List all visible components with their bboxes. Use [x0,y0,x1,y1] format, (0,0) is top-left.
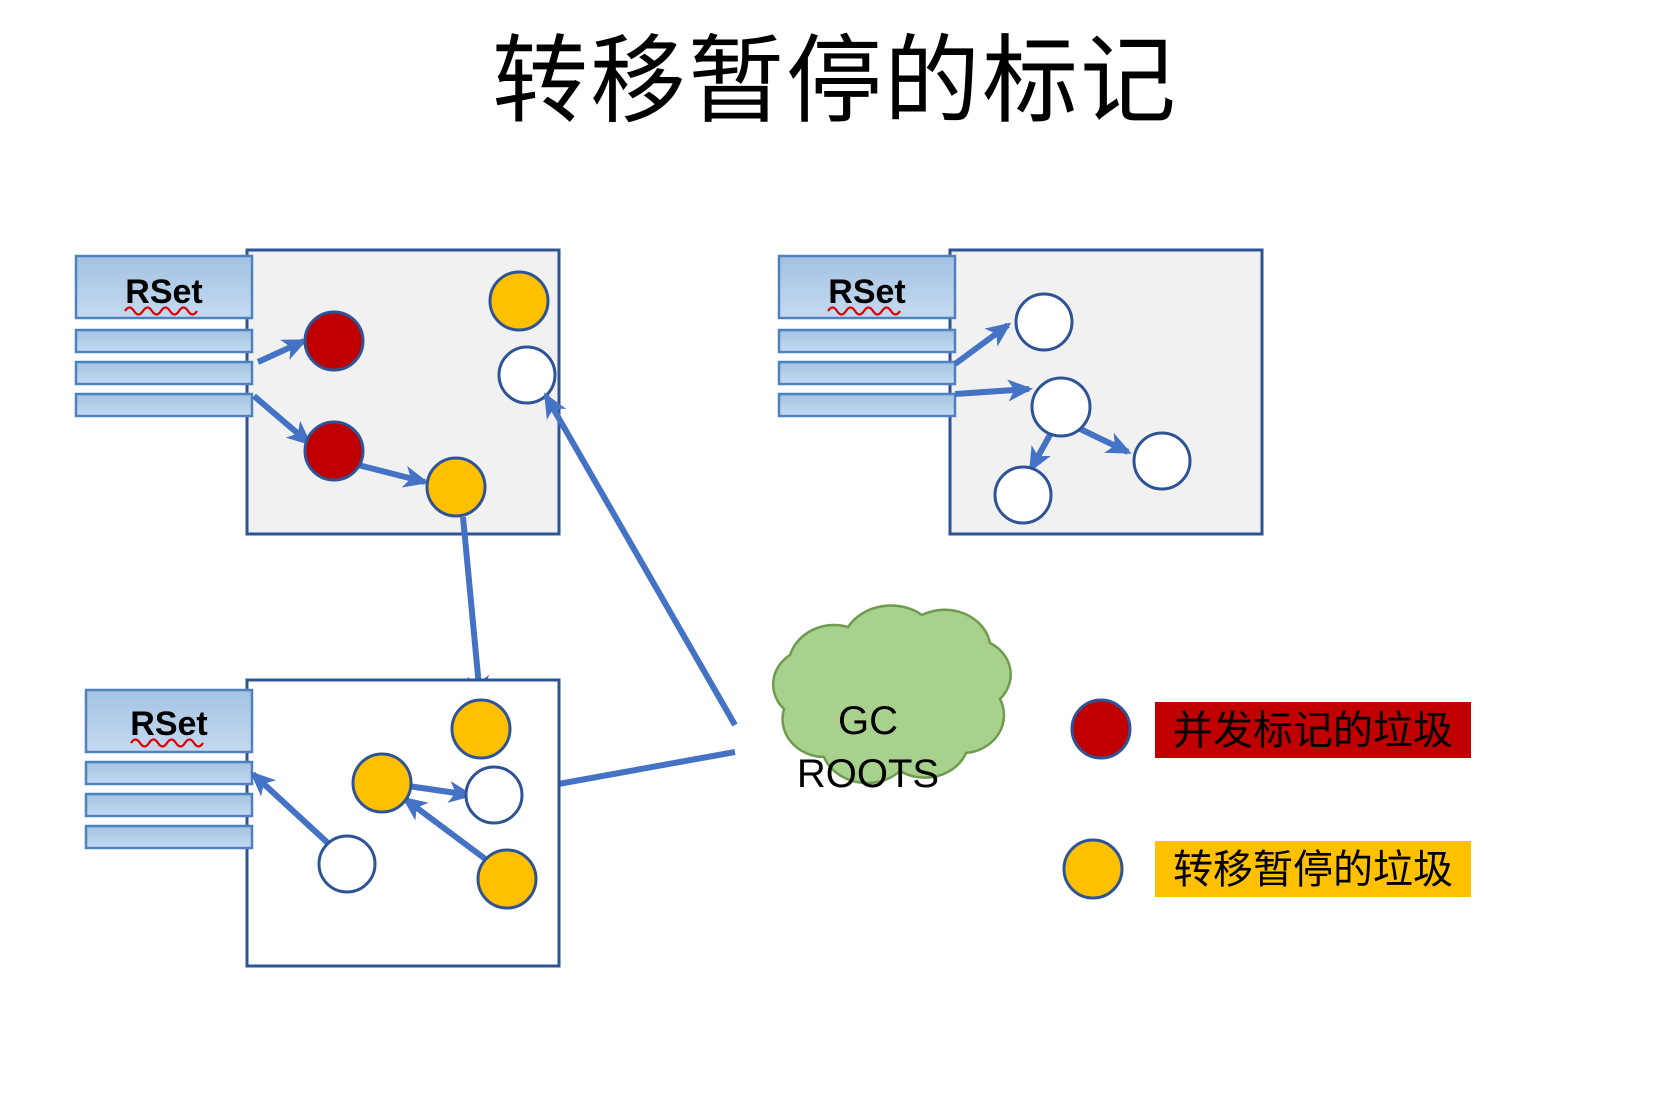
node-yellow-3[interactable] [478,850,536,908]
rset-label: RSet [828,273,905,311]
region-top-left[interactable]: RSet [76,250,559,534]
region-top-left-rset[interactable]: RSet [76,256,252,416]
rset-entry-band [86,762,252,784]
rset-entry-band [76,362,252,384]
legend-swatch-red [1072,700,1130,758]
rset-label: RSet [130,705,207,743]
legend-item-evacuation-pause[interactable]: 转移暂停的垃圾 [1064,840,1471,898]
node-white-4[interactable] [1134,433,1190,489]
node-white-1[interactable] [499,347,555,403]
rset-entry-band [76,330,252,352]
region-bottom-left-rset[interactable]: RSet [86,690,252,848]
node-white-3[interactable] [995,467,1051,523]
legend-item-concurrent-mark[interactable]: 并发标记的垃圾 [1072,700,1471,758]
edge-topleft-yellow-to-bottomleft-yellow [463,517,480,697]
node-yellow-2[interactable] [353,754,411,812]
node-yellow-2[interactable] [427,458,485,516]
node-white-1[interactable] [466,767,522,823]
node-yellow-1[interactable] [490,272,548,330]
rset-entry-band [76,394,252,416]
rset-entry-band [779,394,955,416]
rset-entry-band [779,330,955,352]
rset-entry-band [86,826,252,848]
slide-canvas: 转移暂停的标记 RSet [0,0,1670,1098]
region-bottom-left[interactable]: RSet [86,680,559,966]
legend-swatch-yellow [1064,840,1122,898]
region-top-right[interactable]: RSet [779,250,1262,534]
legend: 并发标记的垃圾 转移暂停的垃圾 [1064,700,1471,898]
node-white-1[interactable] [1016,294,1072,350]
region-top-right-rset[interactable]: RSet [779,256,955,416]
gc-roots-line1: GC [838,699,898,743]
region-bottom-left-body [247,680,559,966]
diagram-layer: RSet RSet [0,0,1670,1098]
node-white-2[interactable] [319,836,375,892]
node-yellow-1[interactable] [452,700,510,758]
edge-gcroots-to-topleft-white [546,396,735,725]
rset-entry-band [86,794,252,816]
gc-roots-line2: ROOTS [797,752,939,796]
legend-label-evacuation-pause: 转移暂停的垃圾 [1173,848,1453,892]
legend-label-concurrent-mark: 并发标记的垃圾 [1173,709,1453,753]
rset-entry-band [779,362,955,384]
node-red-1[interactable] [305,312,363,370]
gc-roots-cloud[interactable]: GC ROOTS [773,606,1011,796]
rset-label: RSet [125,273,202,311]
node-red-2[interactable] [305,422,363,480]
node-white-2[interactable] [1032,378,1090,436]
